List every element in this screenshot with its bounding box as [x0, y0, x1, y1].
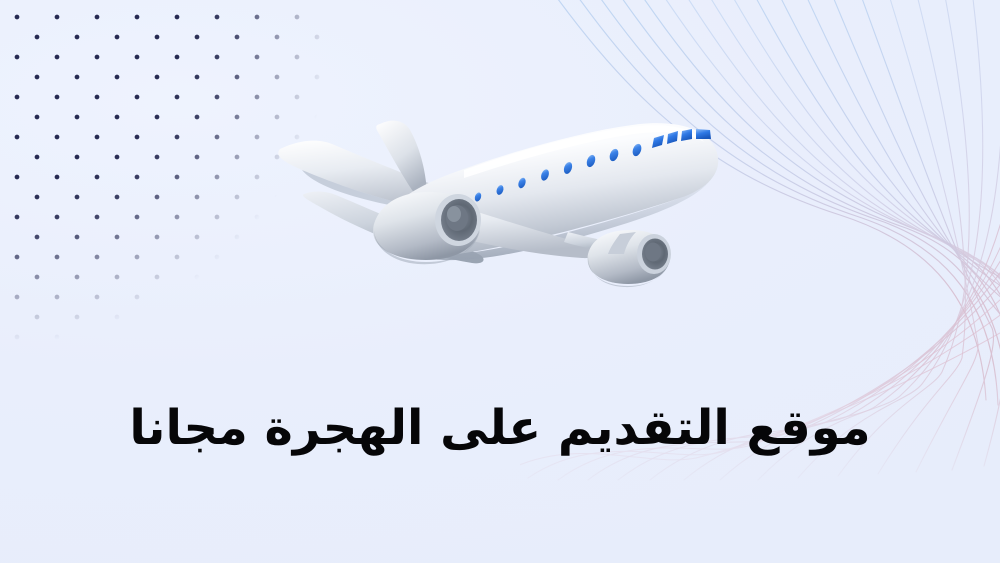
page-title: موقع التقديم على الهجرة مجانا	[0, 400, 1000, 457]
banner-canvas: موقع التقديم على الهجرة مجانا	[0, 0, 1000, 563]
airplane-3d-illustration	[268, 104, 738, 304]
